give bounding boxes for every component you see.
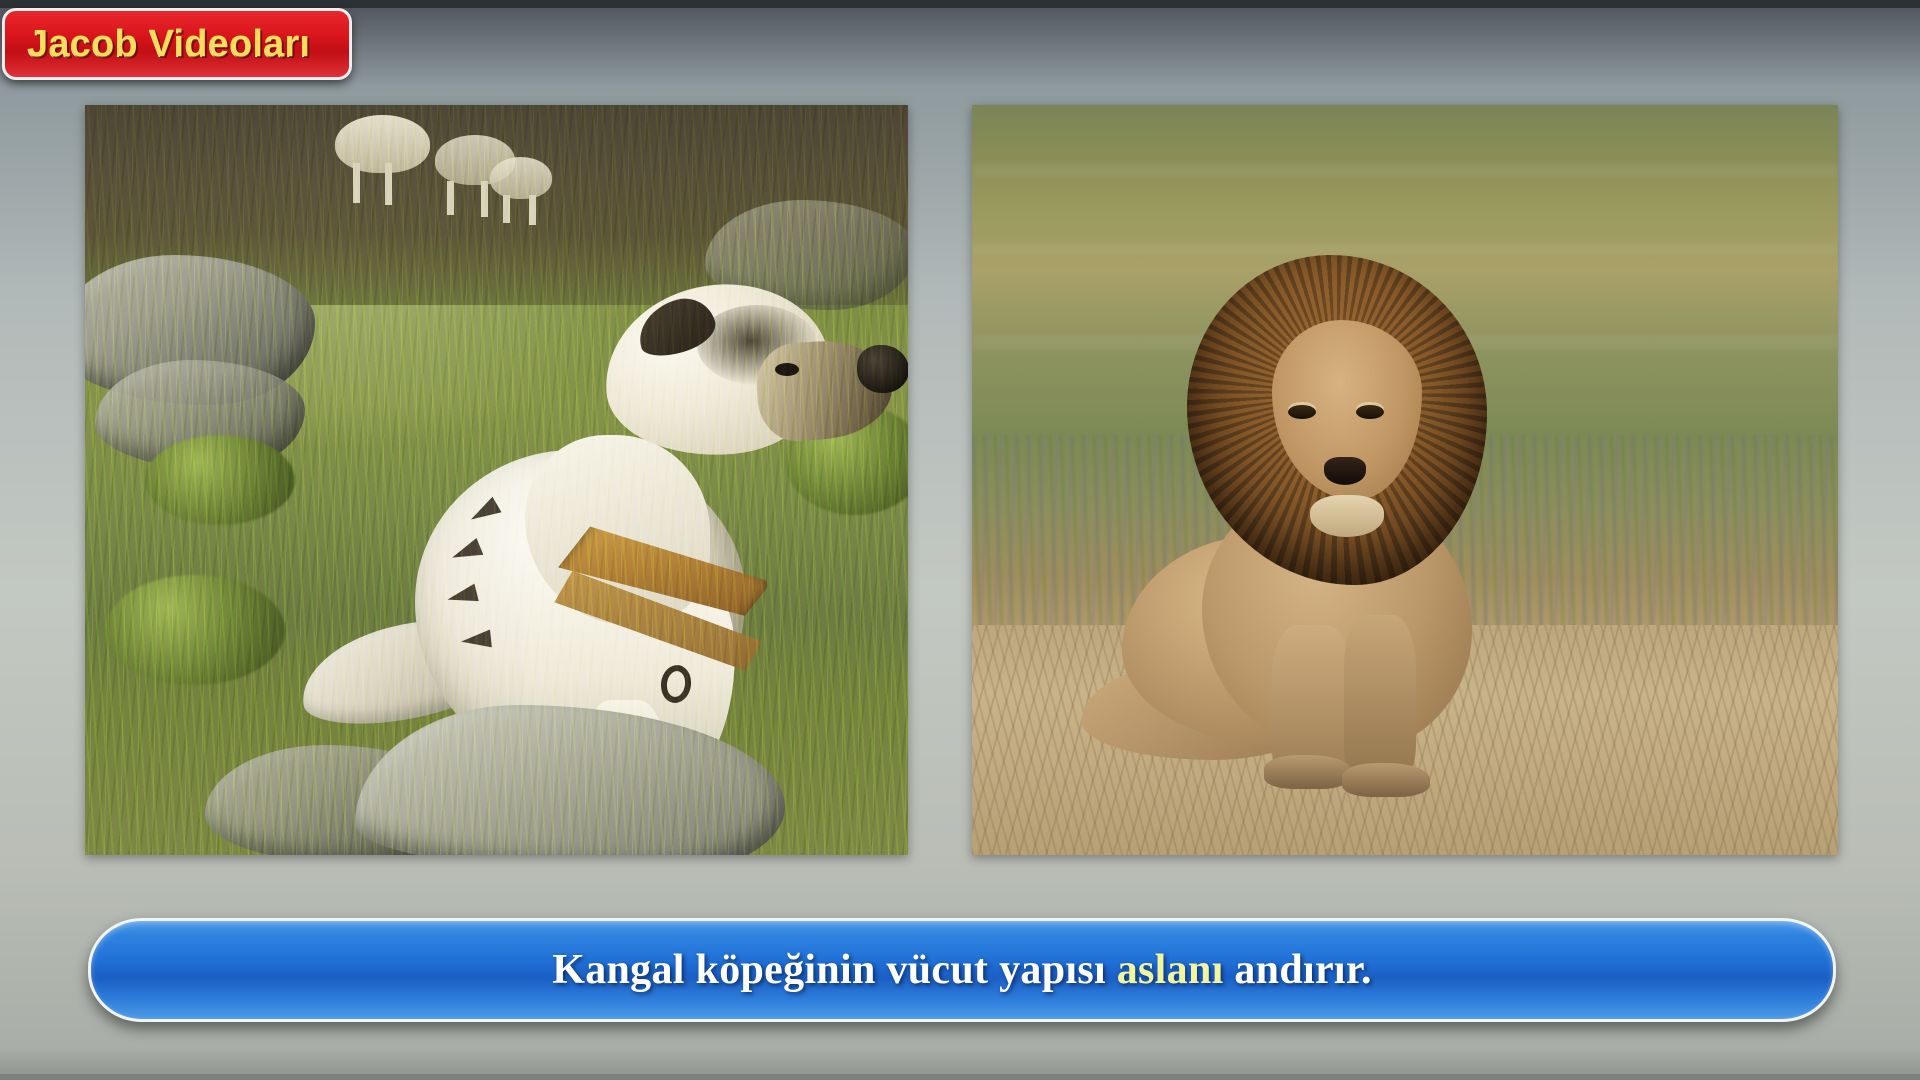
lion-nose (1324, 457, 1366, 485)
subtitle-text: Kangal köpeğinin vücut yapısı aslanı and… (552, 946, 1372, 994)
subtitle-bar: Kangal köpeğinin vücut yapısı aslanı and… (88, 918, 1836, 1022)
kangal-dog-photo[interactable] (85, 105, 908, 855)
grass-streak (972, 165, 1838, 177)
lion-chin (1310, 495, 1384, 537)
video-letterbox-bottom (0, 1074, 1920, 1080)
subtitle-highlight-word: aslanı (1117, 947, 1224, 993)
lion-eye (1356, 405, 1384, 419)
savanna-background (972, 105, 1838, 855)
lion-photo[interactable] (972, 105, 1838, 855)
subtitle-text-before: Kangal köpeğinin vücut yapısı (552, 947, 1117, 993)
lion-foreleg (1344, 615, 1416, 785)
video-letterbox-top (0, 0, 1920, 8)
lion-eye (1288, 405, 1316, 419)
lion-paw (1264, 755, 1352, 789)
grass-streak (972, 245, 1838, 255)
channel-watermark-badge[interactable]: Jacob Videoları (2, 8, 352, 80)
lion-paw (1342, 763, 1430, 797)
grass-texture (85, 105, 908, 855)
pasture-background (85, 105, 908, 855)
channel-watermark-label: Jacob Videoları (5, 23, 310, 66)
photo-comparison-row (85, 105, 1838, 855)
subtitle-text-after: andırır. (1224, 947, 1372, 993)
